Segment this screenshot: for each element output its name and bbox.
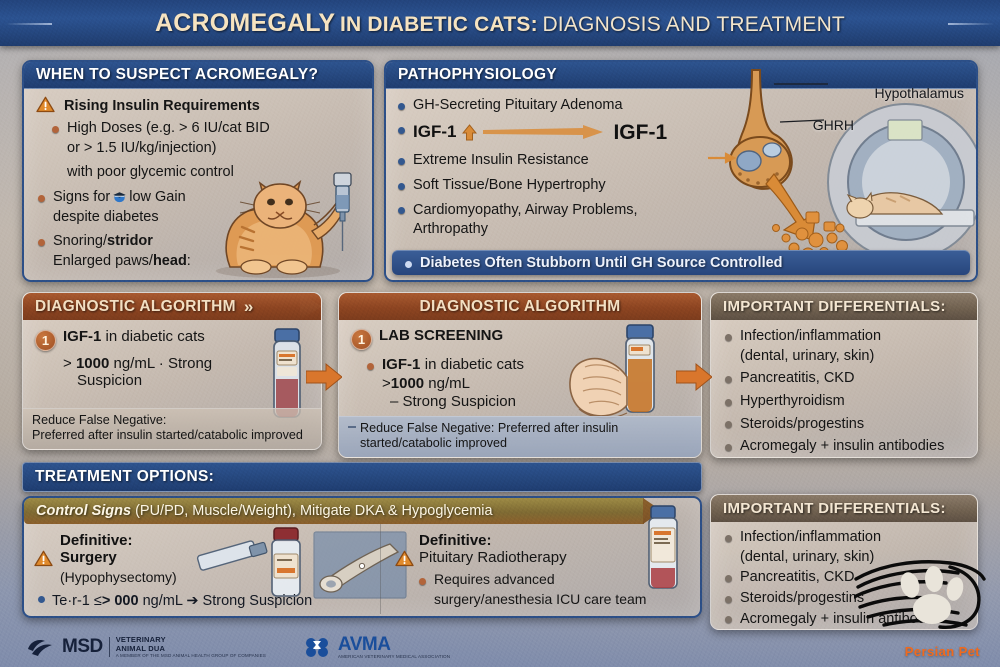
msd-logo-name: MSD bbox=[62, 636, 103, 658]
differentials-top-heading: IMPORTANT DIFFERENTIALS: bbox=[711, 293, 977, 320]
avma-logo-text: AVMA AMERICAN VETERINARY MEDICAL ASSOCIA… bbox=[338, 635, 450, 659]
arrow-right-icon-1 bbox=[306, 362, 342, 392]
paw-print-scribble-watermark bbox=[854, 549, 986, 631]
differentials-top-body: Infection/inflammation (dental, urinary,… bbox=[711, 320, 977, 458]
diag-center-step-title: LAB SCREENING bbox=[379, 327, 503, 344]
treatment-bottom-line: Te·r-1 ≤> 000 ng/mL ➔ Strong Suspicion bbox=[38, 593, 312, 609]
diag-left-body: 1IGF-1 in diabetic cats > 1000 ng/mL · S… bbox=[23, 320, 253, 397]
diff-top-item-2: Pancreatitis, CKD bbox=[740, 370, 854, 386]
diag-left-step-row: 1IGF-1 in diabetic cats bbox=[35, 328, 241, 351]
glycemic-note: with poor glycemic control bbox=[67, 164, 234, 180]
footer-logos: MSD VETERINARY ANIMAL DUA A MEMBER OF TH… bbox=[26, 635, 450, 659]
step-number-badge: 1 bbox=[35, 330, 56, 351]
list-item: Requires advanced surgery/anesthesia ICU… bbox=[417, 570, 690, 609]
treat-right-bullet-b: surgery/anesthesia ICU care team bbox=[434, 591, 646, 607]
diag-center-value-row: >1000 ng/mL bbox=[382, 375, 552, 393]
panel-diagnostic-algorithm-center: DIAGNOSTIC ALGORITHM 1LAB SCREENING IGF bbox=[338, 292, 702, 458]
paws-bold: head bbox=[153, 253, 187, 269]
arrow-right-icon-2 bbox=[676, 362, 712, 392]
diag-center-note-line1: Reduce False Negative: Preferred after i… bbox=[348, 421, 692, 437]
patho-footer-text: Diabetes Often Stubborn Until GH Source … bbox=[405, 255, 783, 271]
diag-left-value-row: > 1000 ng/mL · Strong Suspicion bbox=[63, 355, 241, 389]
warning-triangle-icon bbox=[395, 550, 414, 567]
diag-center-heading: DIAGNOSTIC ALGORITHM bbox=[420, 298, 621, 316]
diag-center-step-row: 1LAB SCREENING bbox=[351, 327, 552, 350]
diff-top-item-0: Infection/inflammation bbox=[740, 328, 881, 344]
igf-row: IGF-1 IGF-1 bbox=[413, 120, 881, 146]
list-item: IGF-1 in diabetic cats >1000 ng/mL – Str… bbox=[365, 355, 552, 411]
patho-list: GH-Secreting Pituitary Adenoma IGF-1 IGF… bbox=[396, 95, 881, 239]
dose-line-b: or > 1.5 IU/kg/injection) bbox=[67, 140, 217, 156]
list-item: Soft Tissue/Bone Hypertrophy bbox=[396, 175, 881, 195]
list-item: Extreme Insulin Resistance bbox=[396, 150, 881, 170]
diag-center-bullet-rest: in diabetic cats bbox=[425, 356, 524, 373]
list-item: with poor glycemic control bbox=[50, 162, 360, 182]
diag-left-note: Reduce False Negative: Preferred after i… bbox=[23, 408, 321, 449]
treatment-options-bar: TREATMENT OPTIONS: bbox=[22, 462, 702, 492]
diff-bot-item-3: Steroids/progestins bbox=[740, 590, 864, 606]
avma-logo-name: AVMA bbox=[338, 635, 450, 654]
diag-left-step-rest: in diabetic cats bbox=[106, 328, 205, 345]
watermark-text: Persian Pet bbox=[905, 644, 980, 659]
list-item: Steroids/progestins bbox=[723, 414, 965, 434]
poster-header: ACROMEGALY IN DIABETIC CATS: DIAGNOSIS A… bbox=[0, 0, 1000, 46]
list-item: Signs forlow Gain despite diabetes bbox=[36, 187, 360, 226]
avma-logo: AVMA AMERICAN VETERINARY MEDICAL ASSOCIA… bbox=[302, 635, 450, 659]
suspect-warning-text: Rising Insulin Requirements bbox=[64, 98, 260, 114]
bottom-line-a: Te·r-1 ≤ bbox=[52, 593, 102, 609]
list-item: Pancreatitis, CKD bbox=[723, 368, 965, 388]
msd-tiny: A MEMBER OF THE MSD ANIMAL HEALTH GROUP … bbox=[116, 653, 266, 658]
diag-center-value: 1000 bbox=[391, 375, 424, 392]
treat-right-title-row: Pituitary Radiotherapy bbox=[395, 549, 690, 567]
diag-left-heading: DIAGNOSTIC ALGORITHM bbox=[35, 298, 236, 316]
chevron-double-right-icon: » bbox=[244, 297, 251, 317]
list-item: Hyperthyroidism bbox=[723, 391, 965, 411]
diag-left-gt: > bbox=[63, 355, 76, 372]
label-ghrh: GHRH bbox=[813, 117, 854, 133]
title-part-3: DIAGNOSIS AND TREATMENT bbox=[542, 13, 845, 36]
ribbon-italic-text: Control Signs bbox=[36, 503, 131, 519]
patho-item-2: Soft Tissue/Bone Hypertrophy bbox=[413, 177, 606, 193]
treat-left-sub: (Hypophysectomy) bbox=[34, 569, 380, 585]
warning-triangle-icon bbox=[34, 550, 53, 567]
diag-center-list: IGF-1 in diabetic cats >1000 ng/mL – Str… bbox=[365, 355, 552, 411]
diag-center-gt: > bbox=[382, 375, 391, 392]
list-item-igf: IGF-1 IGF-1 bbox=[396, 120, 881, 146]
signs-pre: Signs for bbox=[53, 189, 110, 205]
treatment-ribbon: Control Signs (PU/PD, Muscle/Weight), Mi… bbox=[24, 498, 644, 524]
differentials-top-list: Infection/inflammation (dental, urinary,… bbox=[723, 326, 965, 458]
list-item: High Doses (e.g. > 6 IU/cat BID or > 1.5… bbox=[50, 118, 360, 157]
list-item: Acromegaly + insulin antibodies (less co… bbox=[723, 436, 965, 458]
treat-right-list: Requires advanced surgery/anesthesia ICU… bbox=[417, 570, 690, 609]
arrow-up-icon bbox=[462, 124, 477, 141]
diff-bot-item-2: Pancreatitis, CKD bbox=[740, 569, 854, 585]
patho-item-0: GH-Secreting Pituitary Adenoma bbox=[413, 97, 623, 113]
treat-right-title: Pituitary Radiotherapy bbox=[419, 549, 567, 566]
treat-left-title: Surgery bbox=[60, 549, 117, 566]
treat-right-def-label: Definitive: bbox=[395, 532, 690, 549]
bottom-line-bold: > 000 bbox=[102, 593, 139, 609]
msd-logo: MSD VETERINARY ANIMAL DUA A MEMBER OF TH… bbox=[26, 635, 266, 659]
treatment-options-heading: TREATMENT OPTIONS: bbox=[35, 468, 214, 486]
list-item: GH-Secreting Pituitary Adenoma bbox=[396, 95, 881, 115]
msd-sub-b: ANIMAL DUA bbox=[116, 645, 266, 654]
arrow-right-long-icon bbox=[483, 125, 603, 139]
infographic-poster: ACROMEGALY IN DIABETIC CATS: DIAGNOSIS A… bbox=[0, 0, 1000, 667]
suspect-signs-list: Signs forlow Gain despite diabetes Snori… bbox=[36, 187, 360, 271]
treatment-column-right: Definitive: Pituitary Radiotherapy Requi… bbox=[380, 524, 690, 614]
diag-center-dash-line: – Strong Suspicion bbox=[390, 393, 552, 411]
warning-triangle-icon bbox=[36, 96, 55, 113]
diag-left-value: 1000 bbox=[76, 355, 109, 372]
paws-pre: Enlarged paws/ bbox=[53, 253, 153, 269]
signs-post: low Gain bbox=[129, 189, 185, 205]
ribbon-rest-text: (PU/PD, Muscle/Weight), Mitigate DKA & H… bbox=[135, 503, 493, 519]
paws-post: : bbox=[187, 253, 191, 269]
differentials-bottom-heading: IMPORTANT DIFFERENTIALS: bbox=[711, 495, 977, 522]
diag-left-step-bold: IGF-1 bbox=[63, 328, 101, 345]
step-number-badge: 1 bbox=[351, 329, 372, 350]
diag-center-heading-bar: DIAGNOSTIC ALGORITHM bbox=[339, 293, 701, 320]
dose-line-a: High Doses (e.g. > 6 IU/cat BID bbox=[67, 120, 270, 136]
treat-right-bullet-a: Requires advanced bbox=[434, 571, 555, 587]
bottom-line-b: ng/mL ➔ Strong Suspicion bbox=[139, 593, 313, 609]
diag-center-note-line2: started/catabolic improved bbox=[348, 436, 692, 452]
list-item: Cardiomyopathy, Airway Problems, Arthrop… bbox=[396, 200, 881, 239]
patho-item-3: Cardiomyopathy, Airway Problems, bbox=[413, 202, 638, 218]
msd-logo-subtitle: VETERINARY ANIMAL DUA A MEMBER OF THE MS… bbox=[116, 636, 266, 658]
panel-treatment: Control Signs (PU/PD, Muscle/Weight), Mi… bbox=[22, 496, 702, 618]
treat-left-title-row: Surgery bbox=[34, 549, 380, 567]
igf-left-label: IGF-1 bbox=[413, 122, 456, 143]
diag-center-body: 1LAB SCREENING IGF-1 in diabetic cats >1… bbox=[339, 320, 564, 424]
suspect-body: Rising Insulin Requirements High Doses (… bbox=[24, 89, 372, 282]
header-rule-right bbox=[948, 23, 994, 25]
label-hypothalamus: Hypothalamus bbox=[875, 85, 965, 101]
diff-top-item-4: Steroids/progestins bbox=[740, 416, 864, 432]
diff-top-item-1: (dental, urinary, skin) bbox=[740, 348, 874, 364]
snoring-pre: Snoring/ bbox=[53, 233, 107, 249]
treat-left-def-label: Definitive: bbox=[34, 532, 380, 549]
patho-item-4: Arthropathy bbox=[413, 221, 488, 237]
igf-right-label: IGF-1 bbox=[613, 120, 667, 146]
panel-when-to-suspect: WHEN TO SUSPECT ACROMEGALY? bbox=[22, 60, 374, 282]
diff-bot-item-0: Infection/inflammation bbox=[740, 529, 881, 545]
diag-center-unit: ng/mL bbox=[424, 375, 470, 392]
suspect-dose-list: High Doses (e.g. > 6 IU/cat BID or > 1.5… bbox=[50, 118, 360, 182]
diag-center-note-text1: Reduce False Negative: Preferred after i… bbox=[360, 421, 618, 435]
diag-left-suspicion: Suspicion bbox=[77, 372, 241, 389]
panel-diagnostic-algorithm-left: DIAGNOSTIC ALGORITHM » 1IGF-1 in diabeti… bbox=[22, 292, 322, 450]
msd-logo-icon bbox=[26, 635, 56, 659]
header-rule-left bbox=[6, 23, 52, 25]
diag-left-heading-bar: DIAGNOSTIC ALGORITHM » bbox=[23, 293, 321, 320]
patho-footer-strip: Diabetes Often Stubborn Until GH Source … bbox=[392, 250, 970, 275]
signs-line2: despite diabetes bbox=[53, 209, 159, 225]
diff-top-item-5: Acromegaly + insulin antibodies bbox=[740, 438, 944, 454]
diff-top-item-3: Hyperthyroidism bbox=[740, 393, 845, 409]
diag-left-note-line1: Reduce False Negative: bbox=[32, 413, 312, 429]
title-part-2: IN DIABETIC CATS: bbox=[340, 13, 538, 36]
suspect-warning-row: Rising Insulin Requirements bbox=[36, 96, 360, 114]
logo-divider bbox=[109, 637, 110, 657]
list-item: Infection/inflammation (dental, urinary,… bbox=[723, 326, 965, 365]
avma-logo-icon bbox=[302, 635, 332, 659]
diag-left-unit: ng/mL · Strong bbox=[109, 355, 212, 372]
patho-item-1: Extreme Insulin Resistance bbox=[413, 152, 589, 168]
graduation-cap-emoji-icon bbox=[112, 189, 127, 202]
page-title: ACROMEGALY IN DIABETIC CATS: DIAGNOSIS A… bbox=[155, 9, 845, 38]
diag-center-bullet-bold: IGF-1 bbox=[382, 356, 420, 373]
suspect-heading: WHEN TO SUSPECT ACROMEGALY? bbox=[24, 62, 372, 89]
patho-body: GH-Secreting Pituitary Adenoma IGF-1 IGF… bbox=[386, 89, 891, 239]
title-part-1: ACROMEGALY bbox=[155, 9, 335, 37]
diag-center-note: Reduce False Negative: Preferred after i… bbox=[339, 416, 701, 457]
panel-differentials-top: IMPORTANT DIFFERENTIALS: Infection/infla… bbox=[710, 292, 978, 458]
list-item: Snoring/stridor Enlarged paws/head: bbox=[36, 231, 360, 270]
snoring-bold: stridor bbox=[107, 233, 153, 249]
panel-pathophysiology: PATHOPHYSIOLOGY bbox=[384, 60, 978, 282]
bullet-dot-icon bbox=[38, 596, 45, 603]
hand-holding-vial-illustration bbox=[565, 323, 675, 423]
diag-left-note-line2: Preferred after insulin started/cataboli… bbox=[32, 428, 312, 444]
avma-tiny: AMERICAN VETERINARY MEDICAL ASSOCIATION bbox=[338, 654, 450, 659]
